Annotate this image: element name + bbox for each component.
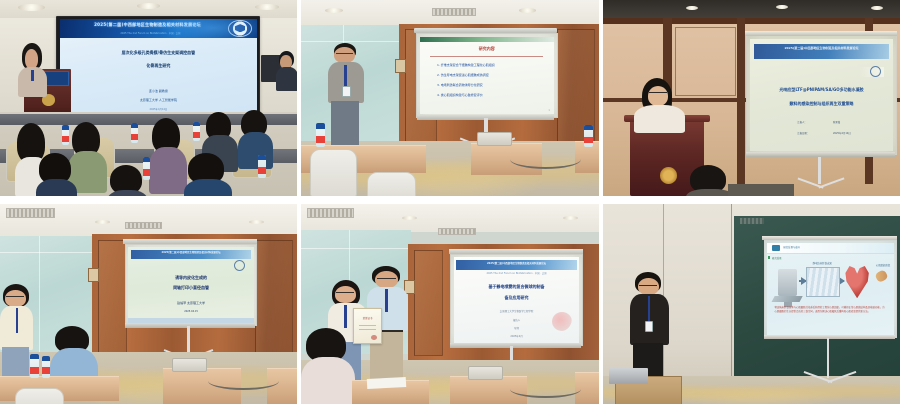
slide-affiliation: 太原理工大学 人工智能学院 [80,98,238,102]
wall-switch[interactable] [88,268,99,282]
wood-panel [414,250,443,356]
ceiling-vent [125,222,163,229]
collector-plate-icon [771,296,802,302]
slide-speaker-label: 汇报人： [797,120,807,124]
presentation-slide-1: 2025(第二届)中西部地区生物制造及相关材料发展论坛 2025 The 2nd… [60,19,257,119]
projection-screen: 研究内容 1. 纤维支架复合干细胞构建工程化心肌组织 2. 仿生导电支架促进心肌… [416,33,558,117]
person-torso [634,105,685,134]
person-torso [149,147,188,194]
photo-panel-4[interactable]: 2025(第二届)中西部地区生物制造及相关材料发展论坛 诱导内皮化生成的 同轴打… [0,204,297,404]
slide-graphic [552,312,572,331]
projection-screen: 2025(第二届)中西部地区生物制造及相关材料发展论坛 2025 The 2nd… [450,254,583,346]
certificate-line [359,329,376,330]
screen-tripod-pole [818,157,821,184]
screen-roller-case [762,236,896,240]
slide-banner-subtitle: 2025 The 2nd Forum on Biofabrication · 中… [87,31,213,35]
ceiling-light [95,220,110,224]
water-bottle [62,125,69,145]
power-cable [510,380,582,398]
slide-list-item: 4. 类心肌组织构建与心脏修复评价 [437,93,543,97]
water-bottle [42,356,51,378]
photo-panel-6[interactable]: 研究背景与意义 研究背景 静电纺丝纤维支架 心肌组织修复 将该纳米纤维技术与心肌… [603,204,900,404]
slide-title-line2: 敷料的感染控制与组织再生双重策略 [760,101,883,107]
lanyard [16,308,18,333]
water-bottle [258,155,266,179]
water-bottle [316,123,326,147]
screen-tripod-pole [827,338,830,378]
slide-list-item: 2. 仿生导电支架促进心肌细胞成熟调控 [437,73,543,77]
photo-panel-2[interactable]: 研究内容 1. 纤维支架复合干细胞构建工程化心肌组织 2. 仿生导电支架促进心肌… [301,0,599,196]
slide-banner: 2025(第二届)中西部地区生物制造及相关材料发展论坛 2025 The 2nd… [60,19,257,38]
screen-bottom-bar [746,152,895,157]
flow-arrow-icon [839,280,844,282]
slide-title-line2: 化骨再生研究 [74,63,244,69]
speaker-person [328,43,364,145]
screen-roller-case [745,31,897,36]
ceiling-vent [6,208,56,218]
projection-screen: 研究背景与意义 研究背景 静电纺丝纤维支架 心肌组织修复 将该纳米纤维技术与心肌… [764,240,897,338]
slide-banner-title: 2025(第二届)中西部地区生物制造及相关材料发展论坛 [133,250,248,254]
ceiling-light [563,216,578,220]
award-certificate: 荣誉证书 [353,308,382,344]
wall-wood-trim [603,18,900,24]
screen-roller-case [449,249,583,254]
slide-title-line1: 基于静电喷雾的复合微球的制备 [461,284,572,290]
slide-title-line1: 层次化多级孔类骨膜/骨仿生支架调控血管 [74,50,244,56]
wall-seam [731,204,732,388]
slide-banner-title: 2025(第二届)中西部地区生物制造及相关材料发展论坛 [757,46,886,50]
slide-banner-title: 2025(第二届)中西部地区生物制造及相关材料发展论坛 [72,22,224,28]
glass-mullion [0,252,95,253]
chair [15,388,65,404]
led-display-frame: 2025(第二届)中西部地区生物制造及相关材料发展论坛 2025 The 2nd… [56,16,260,122]
ceiling-vent [432,8,476,16]
name-badge [342,86,350,97]
ceiling-light [519,8,537,13]
university-seal-icon [228,20,252,37]
glasses-icon [6,296,23,300]
person-torso [107,190,149,196]
ceiling-light [255,4,279,10]
slide-banner-subtitle: 2025 The 2nd Forum on Biofabrication · 中… [466,271,567,275]
lanyard [344,65,347,87]
slide-banner-title: 2025(第二届)中西部地区生物制造及相关材料发展论坛 [459,261,575,265]
speaker-person [633,78,687,129]
slide-list-item: 1. 纤维支架复合干细胞构建工程化心肌组织 [437,63,543,67]
certificate-line [359,325,376,326]
screen-roller-case [414,28,557,33]
person-torso [36,179,78,196]
slide-date: 2025.04.15 [136,310,246,313]
university-logo-icon: university-logo-icon [859,67,885,77]
wood-panel [98,240,127,358]
water-bottle [30,354,40,378]
slide-header-title: 研究背景与意义 [783,245,800,249]
university-logo-icon [220,262,248,269]
electrospinning-machine-icon [778,269,797,297]
glasses-icon [336,292,354,296]
paper-documents [366,377,405,389]
projector [468,366,503,380]
chair [310,149,357,196]
screen-roller-case [123,239,257,244]
ceiling-vent [438,228,476,235]
slide-title-line2: 备及应用研究 [461,295,572,301]
slide-header-icon [772,245,780,251]
table-edge [728,184,794,196]
slide-list-item: 3. 电场刺激联合药物诱导分化研究 [437,83,543,87]
capsule-icon [874,268,889,282]
glasses-icon [377,278,396,282]
audience-person [149,118,188,189]
water-bottle [143,157,151,181]
slide-date-value: 2025年4月14日 [833,131,851,135]
projector [172,358,207,372]
photo-collage: 2025(第二届)中西部地区生物制造及相关材料发展论坛 2025 The 2nd… [0,0,900,404]
person-torso [184,179,232,196]
ceiling-light [137,3,161,9]
certificate-seal-icon [371,335,377,340]
slide-paragraph: 将该纳米纤维技术与心肌细胞共培养后获得的工程化心肌组织，可模拟正常心肌微结构及其… [774,306,886,314]
projection-screen: 2025(第二届)中西部地区生物制造及相关材料发展论坛 university-l… [746,35,897,155]
presentation-slide-5: 2025(第二届)中西部地区生物制造及相关材料发展论坛 2025 The 2nd… [454,257,580,343]
lanyard [31,70,33,81]
slide-date-label: 汇报日期： [797,131,809,135]
ceiling-vent [740,218,764,224]
slide-presenter: 赵编翠 太原理工大学 [136,301,246,305]
power-cable [208,372,279,390]
lanyard [648,296,650,322]
human-heart-icon [844,263,869,298]
audience-person [686,165,734,196]
slide-page-number: 1 [548,109,550,112]
wood-panel [255,240,293,358]
glass-mullion [301,248,411,249]
person-torso [238,132,274,168]
glass-mullion [39,236,40,360]
water-bottle [584,125,593,147]
aligned-fiber-scaffold-icon [806,267,840,297]
slide-divider [430,56,543,57]
glass-mullion [301,41,402,42]
person-torso [276,67,297,91]
photo-panel-5[interactable]: 2025(第二届)中西部地区生物制造及相关材料发展论坛 2025 The 2nd… [301,204,599,404]
audience-person [36,153,78,196]
glasses-icon [639,285,657,289]
water-bottle [193,122,200,142]
presentation-slide-2: 研究内容 1. 纤维支架复合干细胞构建工程化心肌组织 2. 仿生导电支架促进心肌… [420,37,554,114]
projection-screen: 2025(第二届)中西部地区生物制造及相关材料发展论坛 诱导内皮化生成的 同轴打… [125,244,258,326]
slide-title-line2: 同轴打印小直径血管 [136,285,246,291]
audience-person [238,110,274,169]
slide-section-label: 研究背景 [772,256,782,260]
ceiling-light [325,8,343,13]
person-head [648,86,668,106]
person-legs [331,101,359,146]
projector [477,132,512,146]
photo-panel-1[interactable]: 2025(第二届)中西部地区生物制造及相关材料发展论坛 2025 The 2nd… [0,0,297,196]
speaker-person [18,43,48,94]
audience-person [184,153,232,196]
slide-meta-line: 太原理工大学生物医学工程学院 [461,309,572,313]
photo-panel-3[interactable]: 2025(第二届)中西部地区生物制造及相关材料发展论坛 university-l… [603,0,900,196]
wall-switch[interactable] [395,59,406,73]
presentation-slide-3: 2025(第二届)中西部地区生物制造及相关材料发展论坛 university-l… [750,39,893,152]
glasses-icon [649,92,667,96]
chair [367,172,417,196]
glasses-icon [336,53,353,57]
slide-topbar [420,37,554,42]
seated-person [276,51,297,90]
water-bottle [131,123,138,143]
laptop [609,368,648,384]
slide-speaker-value: 陈紫薇 [833,120,840,124]
diagram-caption: 静电纺丝纤维支架 [806,261,838,265]
person-head [25,49,38,68]
audience-person [301,328,355,404]
ceiling-light [18,4,45,11]
person-torso [301,357,355,404]
diagram-tag: 心肌组织修复 [876,263,890,267]
slide-meta-line: 2025年4月 [461,334,572,338]
screen-bottom-bar [450,343,581,348]
name-badge [645,321,653,332]
presentation-slide-4: 2025(第二届)中西部地区生物制造及相关材料发展论坛 诱导内皮化生成的 同轴打… [128,247,253,324]
ceiling-vent [307,208,354,218]
person-torso [686,189,734,196]
lanyard [385,289,388,312]
presentation-slide-6: 研究背景与意义 研究背景 静电纺丝纤维支架 心肌组织修复 将该纳米纤维技术与心肌… [767,243,894,335]
slide-title-line1: 诱导内皮化生成的 [136,275,246,281]
ceiling-light [776,5,788,9]
slide-presenter: 连小洁 副教授 [80,89,238,93]
slide-heading: 研究内容 [420,46,554,52]
certificate-label: 荣誉证书 [354,316,381,320]
flow-arrow-icon [799,280,807,282]
lanyard [344,305,347,328]
slide-title-line1: 光响应型LTF@PNIPAM/SA/GO多功能水凝胶 [760,87,883,93]
power-cable [510,149,582,169]
